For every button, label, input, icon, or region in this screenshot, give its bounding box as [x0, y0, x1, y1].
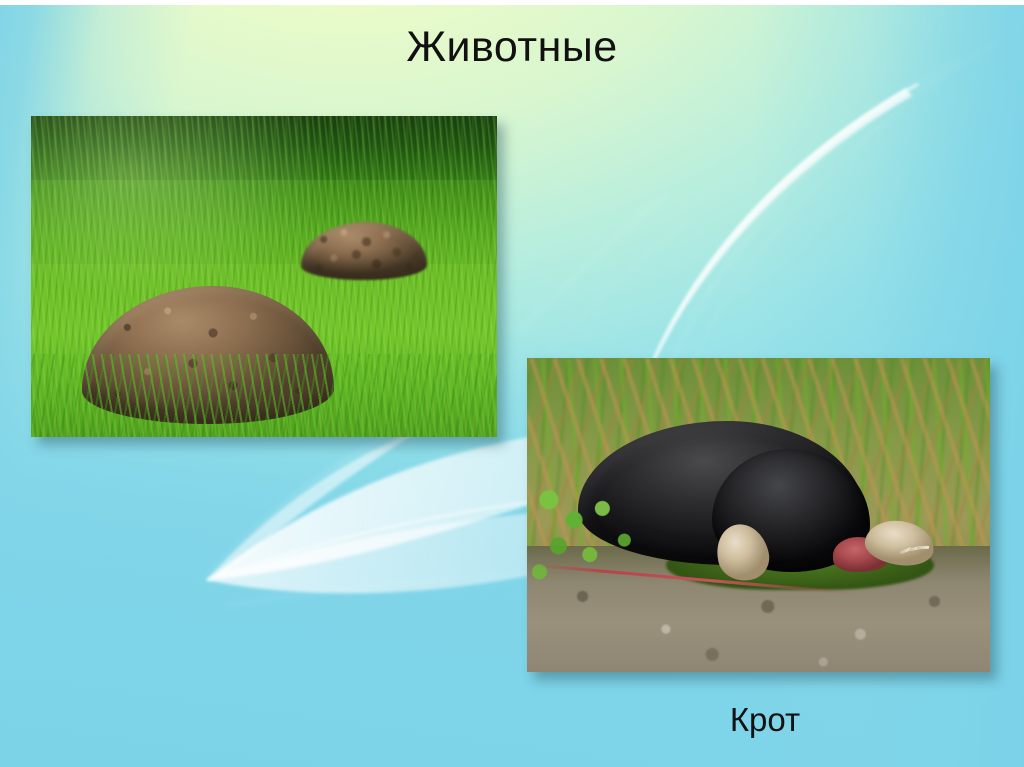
image-molehills-in-grass[interactable]: [31, 116, 497, 437]
image-european-mole[interactable]: [527, 358, 990, 672]
foreground-grass-blades: [31, 354, 497, 437]
green-plants: [527, 471, 684, 615]
top-white-strip: [0, 0, 1024, 5]
claw-icon: [917, 546, 929, 549]
slide-canvas: Животные Крот: [0, 0, 1024, 767]
grass-scene: [31, 116, 497, 437]
image-caption-mole: Крот: [655, 702, 875, 738]
page-title: Животные: [0, 24, 1024, 71]
mole-scene: [527, 358, 990, 672]
